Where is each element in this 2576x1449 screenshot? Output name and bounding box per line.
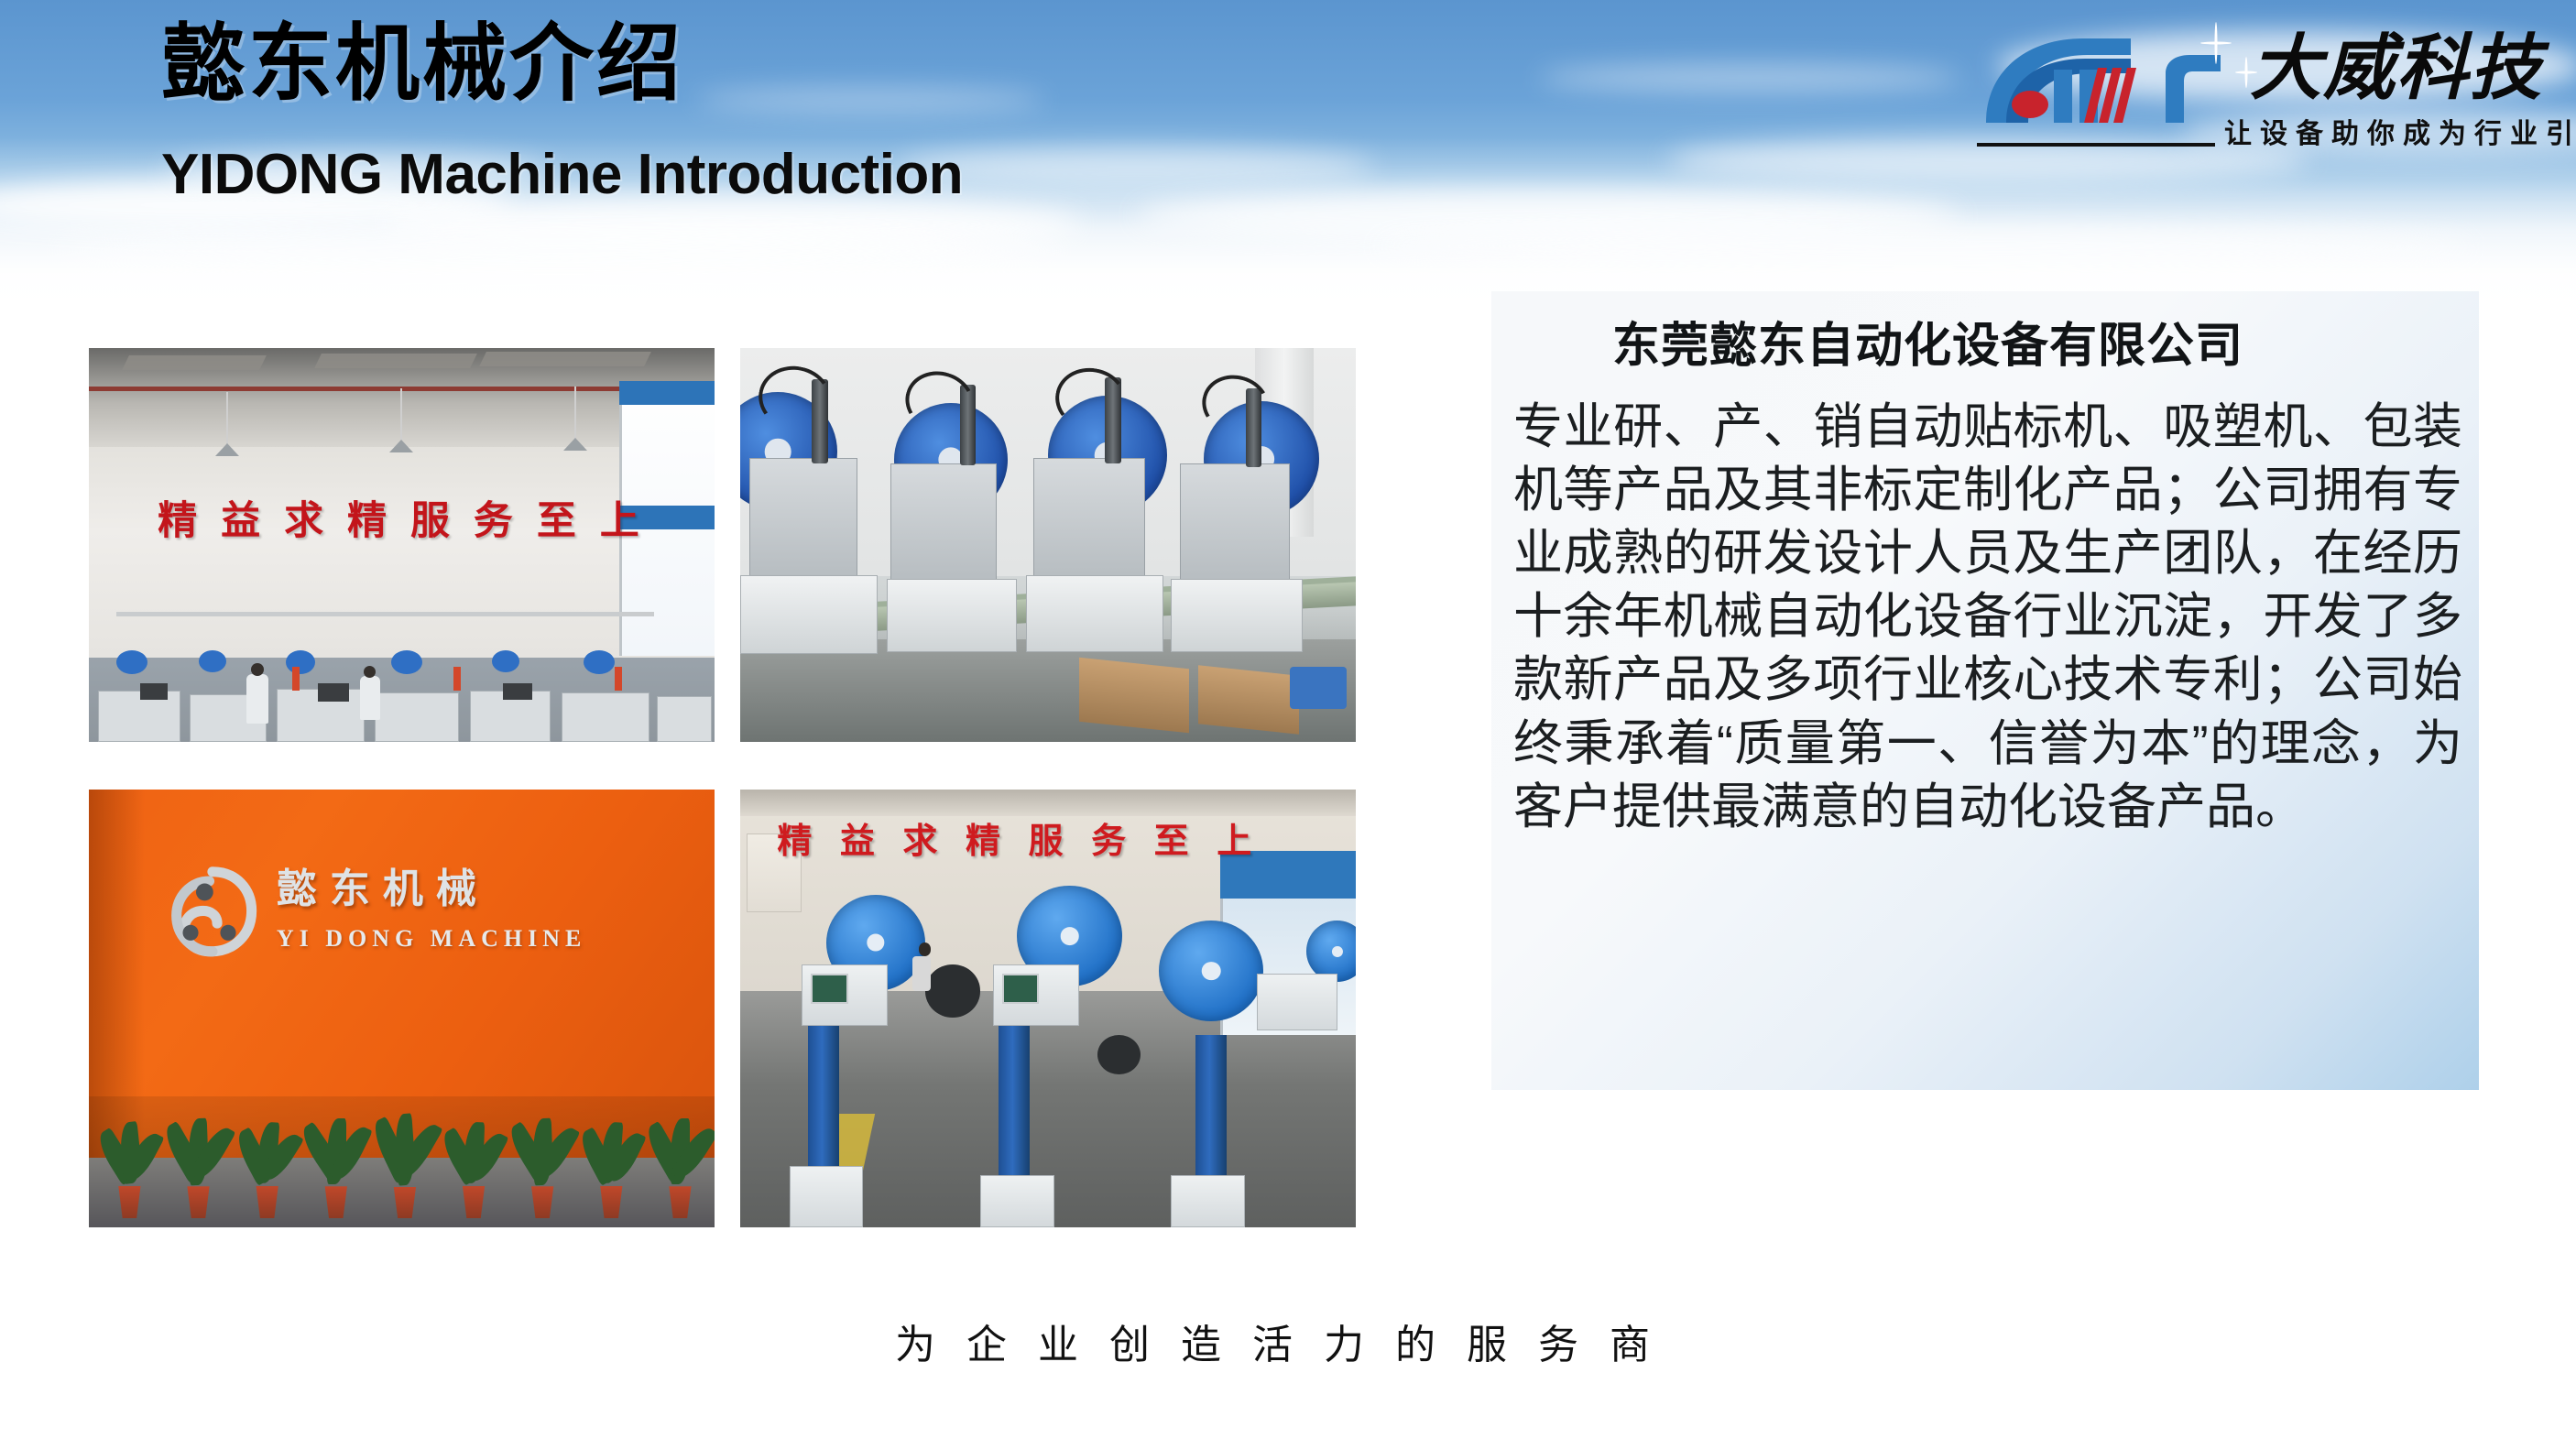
potted-plant <box>102 1122 158 1218</box>
sparkle-icon <box>2200 22 2232 64</box>
photo-workshop-assembly-hall: 精 益 求 精 服 务 至 上 <box>89 348 715 742</box>
potted-plant <box>652 1118 708 1219</box>
wall-slogan-text: 精 益 求 精 服 务 至 上 <box>777 824 1257 859</box>
worker-head <box>251 663 264 676</box>
machine-rows <box>89 647 715 742</box>
worker-head <box>364 666 376 678</box>
cloud-decor <box>1539 64 1960 92</box>
label-reel <box>1159 921 1263 1021</box>
potted-plant <box>377 1114 432 1219</box>
company-description-text: 专业研、产、销自动贴标机、吸塑机、包装机等产品及其非标定制化产品；公司拥有专业成… <box>1513 396 2462 839</box>
potted-plant <box>514 1118 570 1219</box>
footer-slogan: 为企业创造活力的服务商 <box>0 1312 2576 1370</box>
company-logo: 大威科技 让设备助你成为行业引领者 <box>1960 7 2552 172</box>
control-panel <box>1257 974 1337 1030</box>
lobby-sign-english: YI DONG MACHINE <box>277 925 664 953</box>
slide-title-chinese: 懿东机械介绍 <box>161 22 683 106</box>
black-reel <box>1097 1035 1141 1074</box>
logo-tagline: 让设备助你成为行业引领者 <box>2224 121 2576 148</box>
window-blind <box>619 381 715 405</box>
worker <box>246 674 268 724</box>
potted-plant <box>584 1122 639 1218</box>
photo-labeling-machines-bench <box>740 348 1356 742</box>
machine-frame <box>890 463 997 581</box>
worker <box>912 956 931 991</box>
ceiling-beam <box>479 352 651 366</box>
pendant-lamp-cord <box>226 392 228 445</box>
slide-title-english: YIDONG Machine Introduction <box>161 147 963 203</box>
company-name-heading: 东莞懿东自动化设备有限公司 <box>1612 322 2243 370</box>
logo-divider-rule <box>1977 143 2215 147</box>
cloud-decor <box>696 88 1044 112</box>
blue-crate <box>1290 667 1347 709</box>
machine-base <box>740 575 878 654</box>
hmi-screen <box>811 974 847 1004</box>
cloud-decor <box>898 147 1374 187</box>
cardboard-box <box>1079 658 1189 734</box>
potted-plant <box>308 1118 364 1219</box>
worker-head <box>919 942 931 955</box>
cloud-decor <box>1374 227 2473 266</box>
potted-plant <box>445 1122 501 1218</box>
photo-blue-labeling-machines: 精 益 求 精 服 务 至 上 <box>740 790 1356 1227</box>
yidong-emblem-icon <box>164 855 257 969</box>
logo-brand-name: 大威科技 <box>2250 33 2543 104</box>
machine-base <box>1026 575 1163 652</box>
ceiling-beam <box>314 354 477 368</box>
machine-base <box>887 579 1017 652</box>
machine-frame <box>749 458 857 577</box>
pendant-lamp-cord <box>400 388 402 441</box>
machine-base <box>1171 579 1303 652</box>
wall-slogan-text: 精 益 求 精 服 务 至 上 <box>89 502 715 541</box>
potted-plant <box>239 1122 295 1218</box>
lobby-sign-chinese: 懿东机械 <box>277 855 664 914</box>
worker <box>360 676 380 720</box>
machine-base <box>980 1175 1054 1227</box>
machine-frame <box>1033 458 1145 579</box>
potted-plant <box>170 1118 226 1219</box>
pendant-lamp-cord <box>574 387 576 440</box>
hmi-screen <box>1002 974 1039 1004</box>
cloud-decor <box>55 231 1063 271</box>
photo-lobby-orange-wall: 懿东机械 YI DONG MACHINE <box>89 790 715 1227</box>
light-strip <box>116 612 654 616</box>
machine-base <box>1171 1175 1245 1227</box>
ceiling-band <box>740 790 1356 816</box>
machine-base <box>790 1166 864 1227</box>
cardboard-box <box>1198 665 1299 735</box>
black-reel <box>925 964 980 1017</box>
machine-frame <box>1180 463 1290 581</box>
ceiling-beam <box>122 355 267 370</box>
